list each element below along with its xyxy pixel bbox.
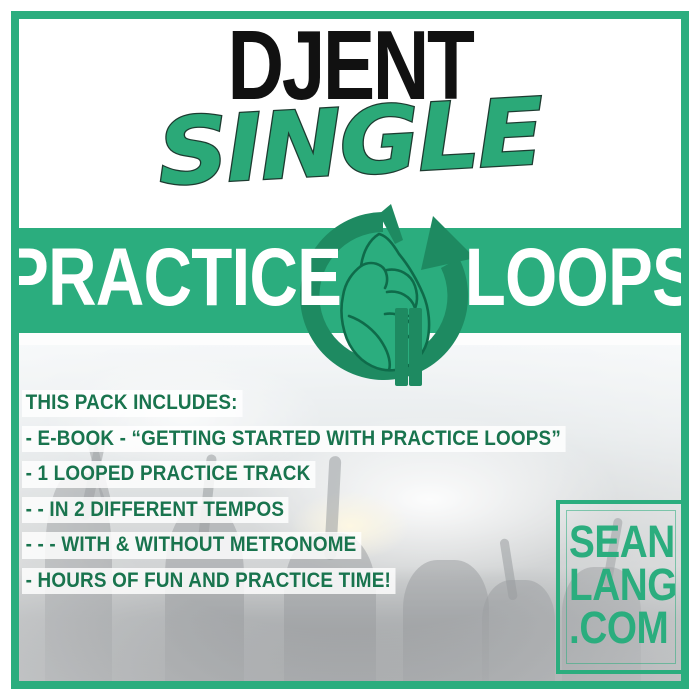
list-item-text: - E-BOOK - “GETTING STARTED WITH PRACTIC… xyxy=(22,426,565,453)
list-item: - - - WITH & WITHOUT METRONOME xyxy=(22,532,626,559)
badge-text: SEAN LANG .COM xyxy=(569,520,663,650)
badge-line-sean: SEAN xyxy=(569,520,663,563)
list-heading-text: THIS PACK INCLUDES: xyxy=(22,390,242,417)
list-item-text: - 1 LOOPED PRACTICE TRACK xyxy=(22,461,315,488)
list-heading: THIS PACK INCLUDES: xyxy=(22,390,626,417)
list-item: - E-BOOK - “GETTING STARTED WITH PRACTIC… xyxy=(22,426,626,453)
list-item: - - IN 2 DIFFERENT TEMPOS xyxy=(22,497,626,524)
pack-includes-list: THIS PACK INCLUDES: - E-BOOK - “GETTING … xyxy=(22,390,626,603)
band-word-practice: PRACTICE xyxy=(4,237,341,319)
list-item: - 1 LOOPED PRACTICE TRACK xyxy=(22,461,626,488)
band-word-loops: LOOPS xyxy=(465,237,696,319)
list-item-text: - - - WITH & WITHOUT METRONOME xyxy=(22,532,361,559)
badge-line-lang: LANG xyxy=(569,563,663,606)
list-item-text: - - IN 2 DIFFERENT TEMPOS xyxy=(22,497,289,524)
badge-line-com: .COM xyxy=(569,606,663,649)
seanlang-badge[interactable]: SEAN LANG .COM xyxy=(556,500,686,674)
list-item: - HOURS OF FUN AND PRACTICE TIME! xyxy=(22,568,626,595)
poster-artwork: DJENT SINGLE PRACTICE LOO xyxy=(0,0,700,700)
list-item-text: - HOURS OF FUN AND PRACTICE TIME! xyxy=(22,568,395,595)
